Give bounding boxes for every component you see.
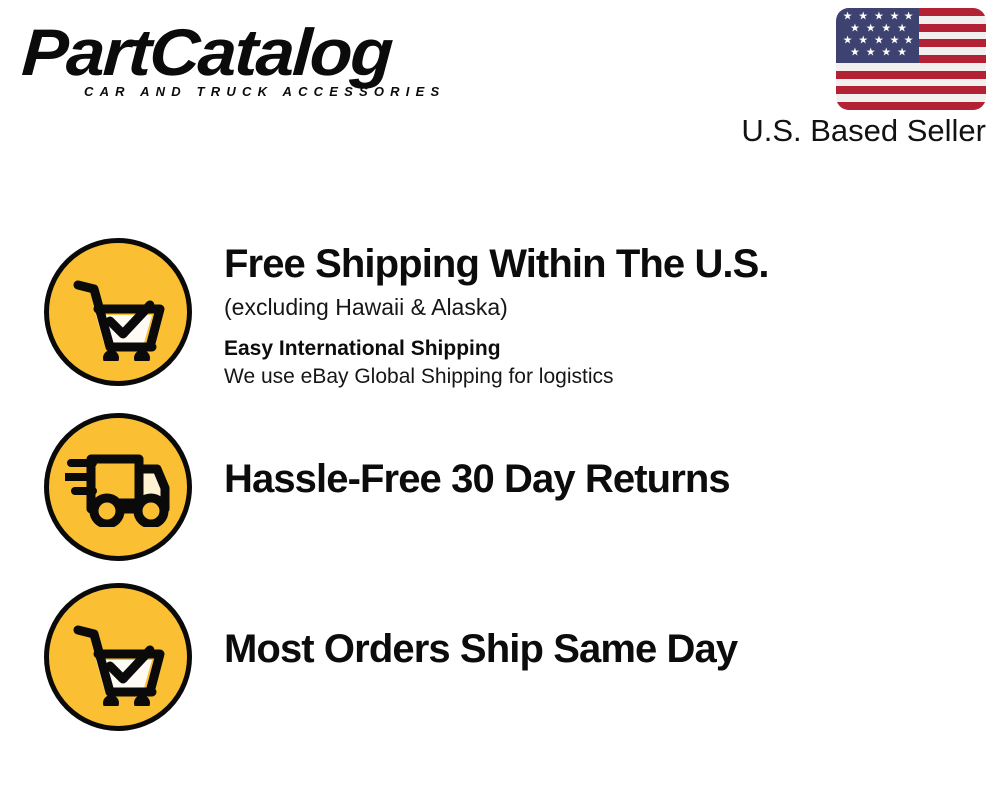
feature-row: Free Shipping Within The U.S. (excluding… <box>44 238 974 391</box>
delivery-truck-icon <box>44 413 192 561</box>
brand-logo[interactable]: PartCatalog CAR AND TRUCK ACCESSORIES <box>22 18 492 99</box>
feature-row: Most Orders Ship Same Day <box>44 583 974 731</box>
feature-title: Most Orders Ship Same Day <box>224 625 974 673</box>
feature-subtitle: (excluding Hawaii & Alaska) <box>224 292 974 322</box>
seller-badge: ★ ★ ★ ★ ★ ★ ★ ★ ★ ★ ★ ★ ★ ★ ★ ★ ★ ★ U.S.… <box>686 8 986 148</box>
us-flag-icon: ★ ★ ★ ★ ★ ★ ★ ★ ★ ★ ★ ★ ★ ★ ★ ★ ★ ★ <box>836 8 986 110</box>
flag-canton: ★ ★ ★ ★ ★ ★ ★ ★ ★ ★ ★ ★ ★ ★ ★ ★ ★ ★ <box>836 8 919 63</box>
feature-note-line: We use eBay Global Shipping for logistic… <box>224 363 974 391</box>
seller-label: U.S. Based Seller <box>686 114 986 148</box>
feature-title: Free Shipping Within The U.S. <box>224 240 974 288</box>
feature-text-block: Most Orders Ship Same Day <box>192 583 974 673</box>
page-header: PartCatalog CAR AND TRUCK ACCESSORIES ★ … <box>0 0 1000 170</box>
feature-text-block: Free Shipping Within The U.S. (excluding… <box>192 238 974 391</box>
feature-title: Hassle-Free 30 Day Returns <box>224 455 974 503</box>
feature-text-block: Hassle-Free 30 Day Returns <box>192 413 974 503</box>
feature-row: Hassle-Free 30 Day Returns <box>44 413 974 561</box>
brand-wordmark: PartCatalog <box>20 18 522 86</box>
cart-check-icon <box>44 583 192 731</box>
cart-check-icon <box>44 238 192 386</box>
feature-strong-line: Easy International Shipping <box>224 335 974 363</box>
